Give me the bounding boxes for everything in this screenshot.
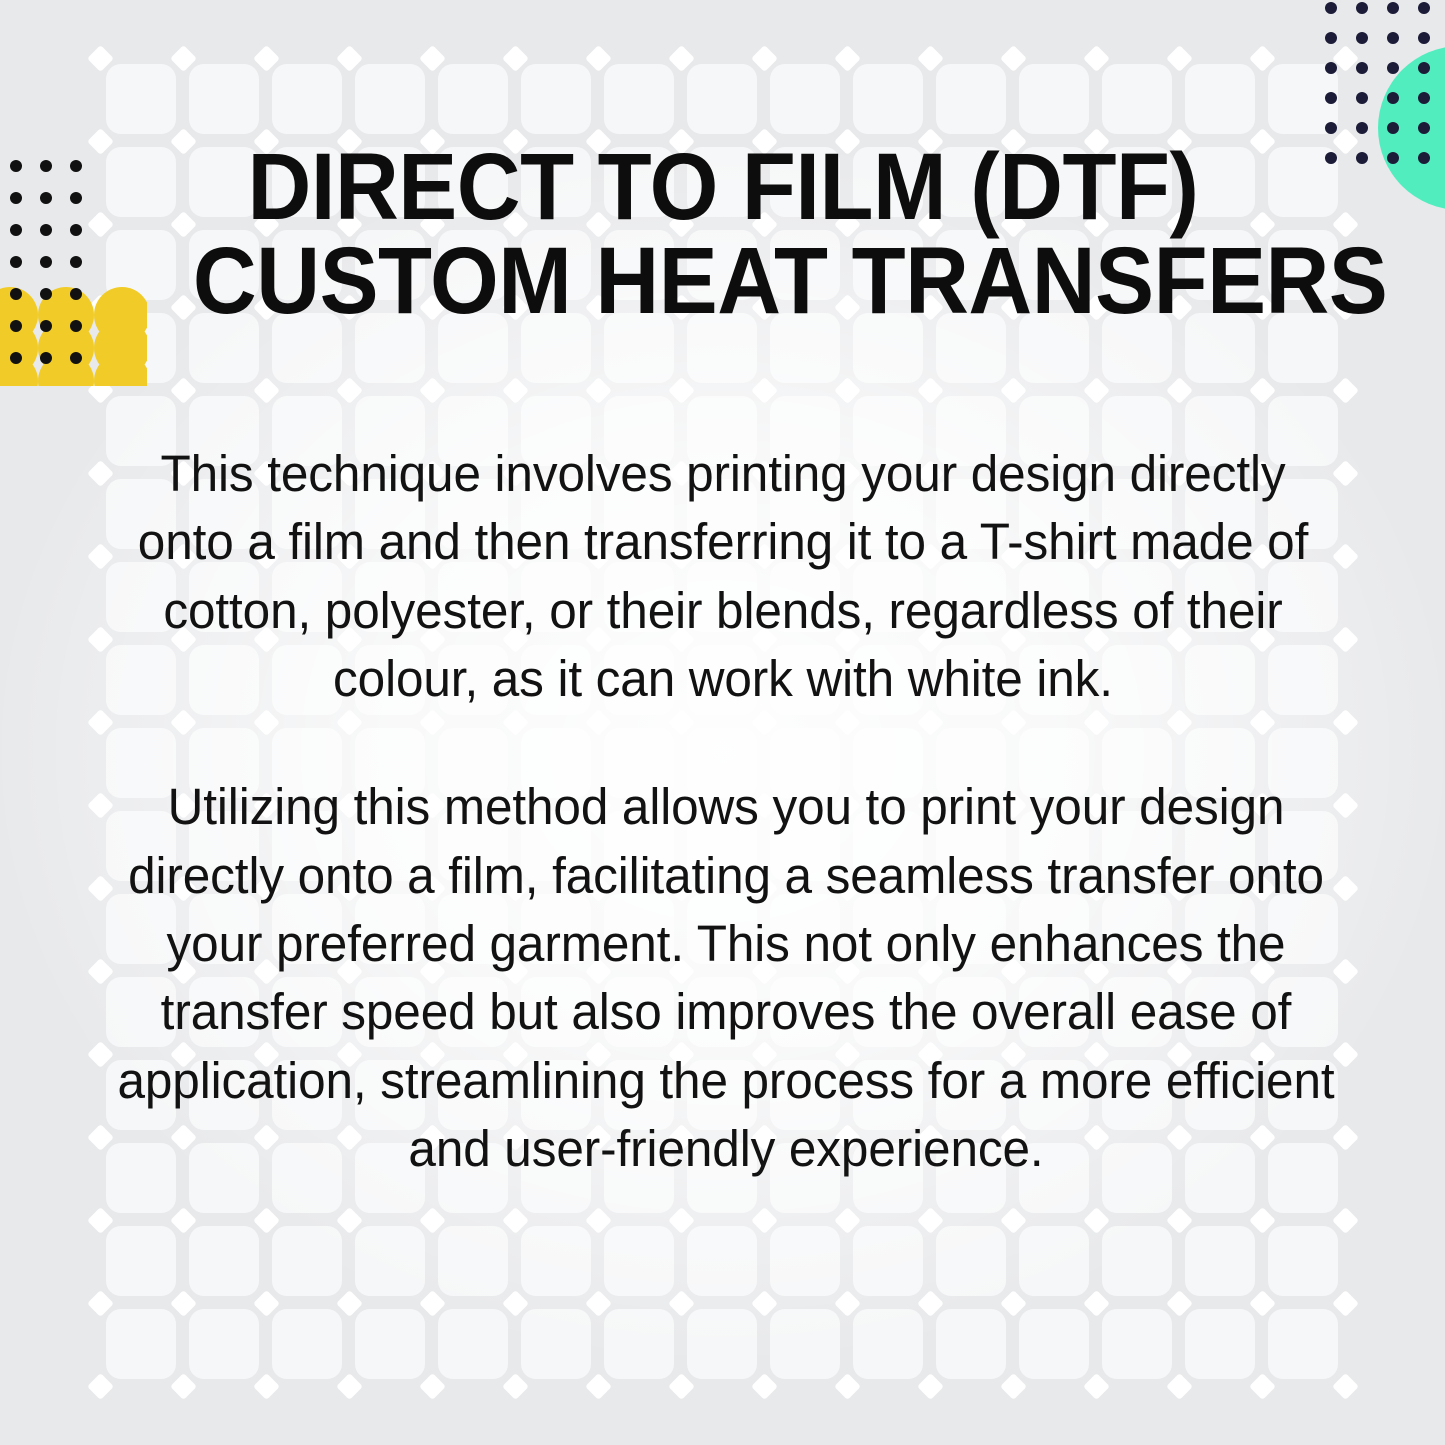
poster-canvas: DIRECT TO FILM (DTF) CUSTOM HEAT TRANSFE… [0, 0, 1445, 1445]
headline-line-2: CUSTOM HEAT TRANSFERS [192, 234, 1252, 328]
headline-line-1: DIRECT TO FILM (DTF) [192, 140, 1252, 234]
body-paragraph-2: Utilizing this method allows you to prin… [115, 773, 1335, 1183]
poster-content: DIRECT TO FILM (DTF) CUSTOM HEAT TRANSFE… [0, 0, 1445, 1445]
body-paragraph-1: This technique involves printing your de… [121, 440, 1324, 713]
body-text-block: This technique involves printing your de… [97, 440, 1349, 1183]
page-title: DIRECT TO FILM (DTF) CUSTOM HEAT TRANSFE… [192, 140, 1252, 328]
